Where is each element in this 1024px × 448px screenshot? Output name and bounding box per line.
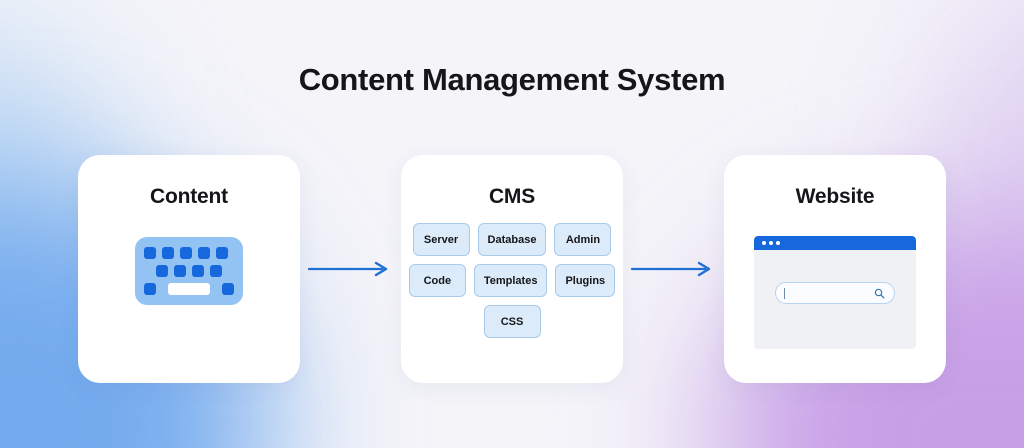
window-dot-icon: [762, 241, 766, 245]
keyboard-icon: [135, 237, 243, 305]
keyboard-row-middle: [144, 265, 234, 277]
cms-component-grid: Server Database Admin Code Templates Plu…: [401, 209, 623, 338]
arrow-right-icon: [308, 261, 394, 277]
cms-chip-admin[interactable]: Admin: [554, 223, 611, 256]
cms-chip-row: CSS: [484, 305, 541, 338]
search-icon[interactable]: [874, 288, 885, 299]
keyboard-key: [210, 265, 222, 277]
keyboard-key: [144, 247, 156, 259]
cms-chip-css[interactable]: CSS: [484, 305, 541, 338]
keyboard-key: [198, 247, 210, 259]
keyboard-key: [174, 265, 186, 277]
keyboard-spacebar: [168, 283, 210, 295]
keyboard-key: [162, 247, 174, 259]
cms-chip-templates[interactable]: Templates: [474, 264, 548, 297]
window-dot-icon: [769, 241, 773, 245]
text-caret: [784, 288, 785, 299]
node-card-cms: CMS Server Database Admin Code Templates…: [401, 155, 623, 383]
node-card-content: Content: [78, 155, 300, 383]
keyboard-key: [180, 247, 192, 259]
connector-cms-to-website: [623, 259, 724, 279]
cms-chip-database[interactable]: Database: [478, 223, 547, 256]
keyboard-icon-wrap: [78, 209, 300, 305]
search-input[interactable]: [775, 282, 895, 304]
cms-chip-server[interactable]: Server: [413, 223, 470, 256]
keyboard-row-top: [144, 247, 234, 259]
keyboard-key: [216, 247, 228, 259]
keyboard-key: [156, 265, 168, 277]
arrow-right-icon: [631, 261, 717, 277]
cms-chip-row: Server Database Admin: [413, 223, 612, 256]
cms-chip-code[interactable]: Code: [409, 264, 466, 297]
cms-chip-plugins[interactable]: Plugins: [555, 264, 615, 297]
node-title-website: Website: [724, 155, 946, 209]
cms-chip-row: Code Templates Plugins: [409, 264, 615, 297]
diagram-canvas: Content Management System Content: [0, 0, 1024, 448]
page-title: Content Management System: [0, 62, 1024, 98]
node-title-content: Content: [78, 155, 300, 209]
node-title-cms: CMS: [401, 155, 623, 209]
keyboard-row-bottom: [144, 283, 234, 295]
keyboard-key: [144, 283, 156, 295]
keyboard-key: [222, 283, 234, 295]
keyboard-key: [192, 265, 204, 277]
flow-row: Content: [78, 155, 946, 383]
browser-title-bar: [754, 236, 916, 250]
browser-viewport: [754, 250, 916, 349]
browser-window-icon: [754, 236, 916, 349]
window-dot-icon: [776, 241, 780, 245]
node-card-website: Website: [724, 155, 946, 383]
browser-window-icon-wrap: [724, 209, 946, 349]
connector-content-to-cms: [300, 259, 401, 279]
